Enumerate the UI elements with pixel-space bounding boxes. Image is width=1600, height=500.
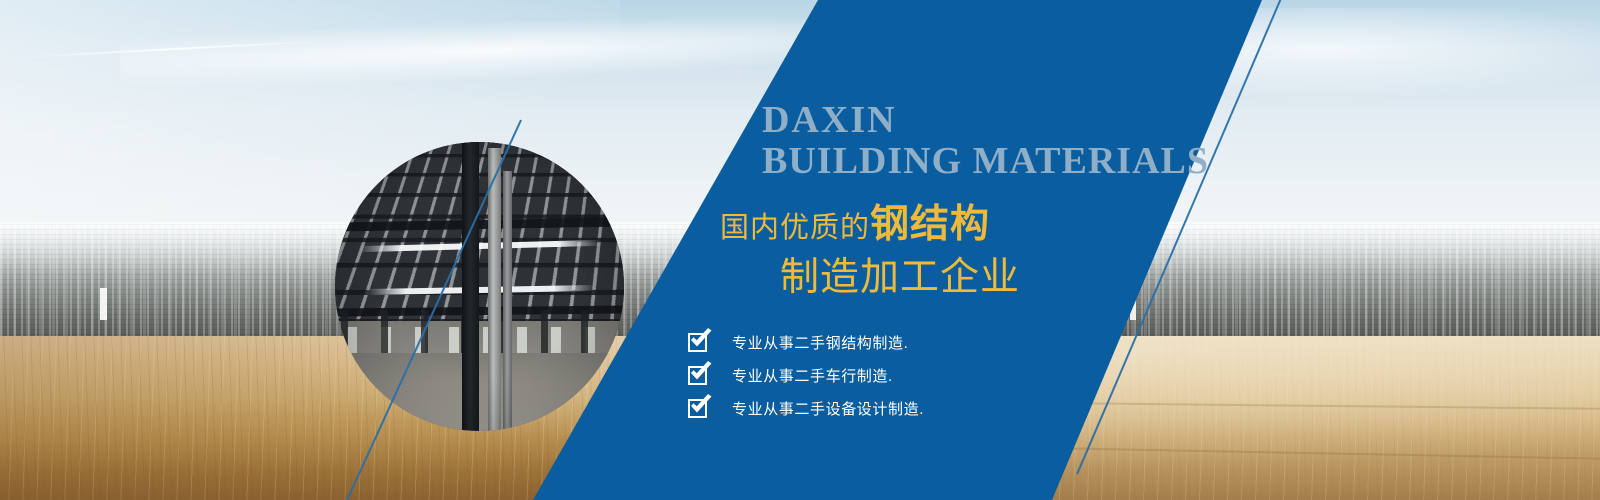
brand-tagline-en: BUILDING MATERIALS — [762, 141, 1209, 182]
feature-item: 专业从事二手钢结构制造. — [688, 326, 924, 358]
checkbox-checked-icon — [688, 399, 707, 418]
headline-prefix: 国内优质的 — [720, 212, 870, 244]
checkbox-checked-icon — [688, 333, 707, 352]
feature-item: 专业从事二手车行制造. — [688, 359, 924, 391]
brand-name: DAXIN — [762, 100, 1209, 141]
checkbox-checked-icon — [688, 366, 707, 385]
brand-lockup: DAXIN BUILDING MATERIALS — [762, 100, 1209, 182]
banner-content: DAXIN BUILDING MATERIALS 国内优质的钢结构 制造加工企业… — [0, 0, 1600, 500]
feature-label: 专业从事二手钢结构制造. — [732, 332, 908, 353]
headline-row-1: 国内优质的钢结构 — [720, 205, 1020, 244]
headline-keyword: 钢结构 — [870, 203, 990, 246]
feature-label: 专业从事二手车行制造. — [732, 365, 893, 386]
feature-list: 专业从事二手钢结构制造. 专业从事二手车行制造. 专业从事二手设备设计制造. — [688, 326, 924, 424]
feature-label: 专业从事二手设备设计制造. — [732, 398, 924, 419]
feature-item: 专业从事二手设备设计制造. — [688, 392, 924, 424]
headline-block: 国内优质的钢结构 制造加工企业 — [720, 205, 1020, 297]
hero-banner: DAXIN BUILDING MATERIALS 国内优质的钢结构 制造加工企业… — [0, 0, 1600, 500]
headline-row-2: 制造加工企业 — [720, 258, 1020, 297]
